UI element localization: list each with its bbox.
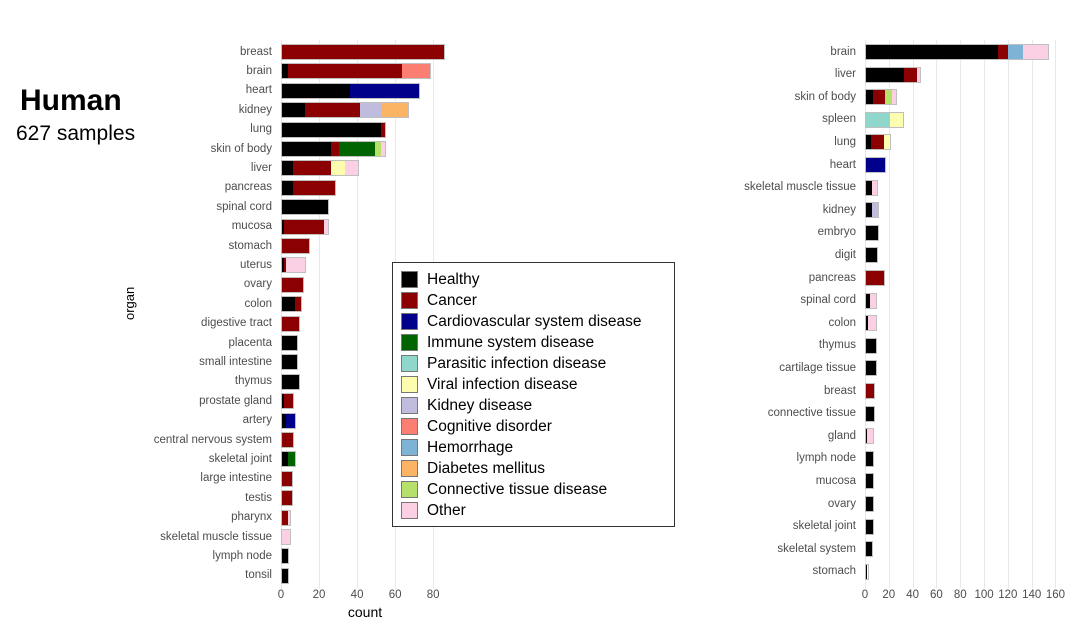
- y-tick-label: ovary: [12, 277, 272, 291]
- y-tick-label: uterus: [12, 258, 272, 272]
- bar-segment: [288, 64, 402, 78]
- bar-stack: [281, 160, 359, 176]
- bar-stack: [281, 451, 296, 467]
- y-tick-label: tonsil: [12, 568, 272, 582]
- bar-stack: [281, 238, 310, 254]
- bar-segment: [1023, 45, 1048, 59]
- bar-segment: [282, 433, 293, 447]
- bar-segment: [866, 271, 884, 285]
- bar-segment: [381, 103, 408, 117]
- bar-segment: [892, 90, 896, 104]
- legend-item[interactable]: Other: [401, 500, 666, 521]
- bar-segment: [360, 103, 381, 117]
- mouse-plot-area: [865, 40, 1065, 588]
- bar-stack: [281, 393, 294, 409]
- legend-swatch-icon: [401, 292, 418, 309]
- bar-stack: [281, 63, 431, 79]
- y-tick-label: prostate gland: [12, 394, 272, 408]
- bar-stack: [865, 338, 877, 354]
- y-tick-label: spinal cord: [12, 200, 272, 214]
- legend-swatch-icon: [401, 397, 418, 414]
- legend-swatch-icon: [401, 376, 418, 393]
- bar-segment: [872, 203, 878, 217]
- legend-label: Immune system disease: [427, 334, 594, 351]
- bar-segment: [866, 339, 876, 353]
- x-tick-label: 40: [337, 589, 377, 601]
- bar-segment: [324, 220, 328, 234]
- y-tick-label: kidney: [596, 203, 856, 217]
- bar-segment: [282, 123, 381, 137]
- y-tick-label: stomach: [596, 564, 856, 578]
- y-tick-label: stomach: [12, 239, 272, 253]
- bar-segment: [282, 472, 292, 486]
- x-tick-label: 160: [1035, 589, 1075, 601]
- y-tick-label: skin of body: [12, 142, 272, 156]
- bar-segment: [866, 158, 885, 172]
- bar-stack: [865, 473, 874, 489]
- x-tick-label: 60: [375, 589, 415, 601]
- bar-segment: [866, 452, 873, 466]
- gridline: [1055, 40, 1056, 588]
- bar-stack: [865, 180, 878, 196]
- legend-swatch-icon: [401, 460, 418, 477]
- bar-segment: [282, 278, 303, 292]
- bar-segment: [350, 84, 418, 98]
- bar-segment: [873, 90, 885, 104]
- y-tick-label: skin of body: [596, 90, 856, 104]
- bar-stack: [281, 316, 300, 332]
- bar-segment: [872, 181, 877, 195]
- bar-segment: [866, 68, 904, 82]
- bar-segment: [381, 123, 385, 137]
- gridline: [936, 40, 937, 588]
- legend-item[interactable]: Kidney disease: [401, 395, 666, 416]
- y-tick-label: thymus: [12, 374, 272, 388]
- x-tick-label: 0: [261, 589, 301, 601]
- bar-segment: [282, 375, 299, 389]
- legend-swatch-icon: [401, 271, 418, 288]
- x-tick-label: 20: [299, 589, 339, 601]
- bar-segment: [284, 220, 324, 234]
- legend-swatch-icon: [401, 334, 418, 351]
- bar-segment: [868, 316, 875, 330]
- y-tick-label: liver: [12, 161, 272, 175]
- bar-stack: [281, 490, 293, 506]
- bar-stack: [281, 122, 386, 138]
- bar-segment: [295, 297, 301, 311]
- y-tick-label: pharynx: [12, 510, 272, 524]
- bar-segment: [282, 45, 444, 59]
- legend-item[interactable]: Cancer: [401, 290, 666, 311]
- y-tick-label: lung: [596, 135, 856, 149]
- y-tick-label: breast: [12, 45, 272, 59]
- bar-stack: [865, 44, 1049, 60]
- gridline: [1008, 40, 1009, 588]
- legend-swatch-icon: [401, 439, 418, 456]
- bar-stack: [865, 564, 869, 580]
- y-tick-label: embryo: [596, 225, 856, 239]
- y-tick-label: spleen: [596, 112, 856, 126]
- bar-segment: [866, 407, 874, 421]
- y-tick-label: liver: [596, 67, 856, 81]
- bar-segment: [866, 542, 872, 556]
- bar-stack: [865, 406, 875, 422]
- bar-segment: [866, 226, 878, 240]
- bar-stack: [865, 134, 891, 150]
- bar-segment: [866, 361, 876, 375]
- legend-item[interactable]: Cognitive disorder: [401, 416, 666, 437]
- bar-stack: [281, 413, 296, 429]
- legend-label: Viral infection disease: [427, 376, 578, 393]
- bar-stack: [281, 219, 329, 235]
- bar-stack: [865, 157, 886, 173]
- bar-stack: [865, 270, 885, 286]
- y-tick-label: pancreas: [12, 180, 272, 194]
- bar-segment: [286, 414, 296, 428]
- bar-stack: [865, 89, 897, 105]
- legend: HealthyCancerCardiovascular system disea…: [392, 262, 675, 527]
- bar-segment: [866, 113, 890, 127]
- y-tick-label: skeletal muscle tissue: [12, 530, 272, 544]
- bar-stack: [865, 360, 877, 376]
- legend-label: Kidney disease: [427, 397, 532, 414]
- bar-segment: [866, 474, 873, 488]
- legend-item[interactable]: Parasitic infection disease: [401, 353, 666, 374]
- legend-label: Parasitic infection disease: [427, 355, 606, 372]
- bar-segment: [282, 200, 328, 214]
- legend-label: Connective tissue disease: [427, 481, 607, 498]
- legend-swatch-icon: [401, 502, 418, 519]
- y-tick-label: brain: [12, 64, 272, 78]
- bar-segment: [1008, 45, 1023, 59]
- y-tick-label: lymph node: [12, 549, 272, 563]
- bar-segment: [282, 142, 331, 156]
- bar-stack: [865, 383, 875, 399]
- bar-segment: [282, 549, 288, 563]
- bar-stack: [865, 225, 879, 241]
- legend-item[interactable]: Diabetes mellitus: [401, 458, 666, 479]
- bar-stack: [865, 112, 904, 128]
- legend-swatch-icon: [401, 313, 418, 330]
- legend-swatch-icon: [401, 418, 418, 435]
- bar-segment: [282, 161, 293, 175]
- bar-segment: [293, 161, 331, 175]
- bar-segment: [339, 142, 375, 156]
- bar-stack: [281, 141, 386, 157]
- gridline: [1032, 40, 1033, 588]
- bar-stack: [281, 471, 293, 487]
- bar-segment: [885, 90, 892, 104]
- bar-segment: [282, 569, 288, 583]
- bar-stack: [281, 335, 298, 351]
- legend-item[interactable]: Hemorrhage: [401, 437, 666, 458]
- bar-stack: [281, 102, 409, 118]
- y-tick-label: placenta: [12, 336, 272, 350]
- bar-segment: [282, 103, 305, 117]
- bar-stack: [281, 277, 304, 293]
- gridline: [960, 40, 961, 588]
- bar-stack: [281, 44, 445, 60]
- y-tick-label: heart: [596, 158, 856, 172]
- x-tick-label: 80: [413, 589, 453, 601]
- bar-segment: [282, 530, 290, 544]
- bar-segment: [884, 135, 890, 149]
- bar-stack: [281, 374, 300, 390]
- bar-stack: [865, 428, 874, 444]
- bar-segment: [866, 565, 867, 579]
- bar-segment: [293, 181, 335, 195]
- legend-label: Hemorrhage: [427, 439, 513, 456]
- bar-segment: [345, 161, 358, 175]
- bar-segment: [282, 181, 293, 195]
- bar-stack: [865, 451, 874, 467]
- bar-stack: [281, 529, 291, 545]
- bar-segment: [904, 68, 917, 82]
- y-tick-label: digit: [596, 248, 856, 262]
- human-x-axis-title: count: [281, 604, 449, 620]
- bar-segment: [284, 394, 294, 408]
- legend-item[interactable]: Connective tissue disease: [401, 479, 666, 500]
- bar-segment: [866, 384, 874, 398]
- gridline: [984, 40, 985, 588]
- y-tick-label: digestive tract: [12, 316, 272, 330]
- y-tick-label: skeletal joint: [12, 452, 272, 466]
- bar-segment: [871, 135, 884, 149]
- bar-stack: [865, 67, 921, 83]
- bar-segment: [866, 520, 873, 534]
- bar-stack: [865, 202, 879, 218]
- y-tick-label: kidney: [12, 103, 272, 117]
- y-tick-label: artery: [12, 413, 272, 427]
- bar-stack: [281, 354, 298, 370]
- bar-segment: [890, 113, 903, 127]
- legend-swatch-icon: [401, 481, 418, 498]
- bar-stack: [281, 257, 306, 273]
- legend-label: Other: [427, 502, 466, 519]
- bar-stack: [281, 180, 336, 196]
- legend-label: Cognitive disorder: [427, 418, 552, 435]
- y-tick-label: large intestine: [12, 471, 272, 485]
- bar-segment: [282, 84, 350, 98]
- bar-stack: [281, 548, 289, 564]
- bar-stack: [281, 199, 329, 215]
- y-tick-label: skeletal system: [596, 542, 856, 556]
- bar-stack: [281, 510, 291, 526]
- legend-item[interactable]: Immune system disease: [401, 332, 666, 353]
- bar-segment: [305, 103, 360, 117]
- y-tick-label: mucosa: [12, 219, 272, 233]
- bar-stack: [865, 519, 874, 535]
- y-tick-label: skeletal muscle tissue: [596, 180, 856, 194]
- y-tick-label: colon: [12, 297, 272, 311]
- bar-segment: [282, 355, 297, 369]
- bar-segment: [866, 497, 873, 511]
- bar-stack: [865, 496, 874, 512]
- bar-stack: [865, 247, 878, 263]
- bar-stack: [281, 432, 294, 448]
- y-tick-label: central nervous system: [12, 433, 272, 447]
- bar-segment: [286, 258, 305, 272]
- legend-label: Cardiovascular system disease: [427, 313, 642, 330]
- bar-segment: [331, 142, 339, 156]
- bar-segment: [288, 452, 296, 466]
- legend-item[interactable]: Healthy: [401, 269, 666, 290]
- legend-label: Healthy: [427, 271, 480, 288]
- y-tick-label: heart: [12, 83, 272, 97]
- bar-segment: [402, 64, 431, 78]
- legend-item[interactable]: Viral infection disease: [401, 374, 666, 395]
- bar-stack: [865, 293, 877, 309]
- bar-segment: [870, 294, 876, 308]
- bar-segment: [866, 90, 873, 104]
- bar-stack: [281, 296, 302, 312]
- legend-item[interactable]: Cardiovascular system disease: [401, 311, 666, 332]
- legend-label: Diabetes mellitus: [427, 460, 545, 477]
- legend-label: Cancer: [427, 292, 477, 309]
- bar-stack: [865, 541, 873, 557]
- bar-segment: [867, 429, 873, 443]
- y-tick-label: lung: [12, 122, 272, 136]
- legend-swatch-icon: [401, 355, 418, 372]
- bar-segment: [998, 45, 1008, 59]
- y-tick-label: testis: [12, 491, 272, 505]
- bar-segment: [282, 336, 297, 350]
- bar-segment: [866, 248, 877, 262]
- gridline: [913, 40, 914, 588]
- bar-stack: [865, 315, 877, 331]
- bar-segment: [331, 161, 344, 175]
- bar-segment: [282, 297, 295, 311]
- bar-segment: [282, 317, 299, 331]
- y-tick-label: brain: [596, 45, 856, 59]
- bar-segment: [381, 142, 385, 156]
- bar-segment: [288, 511, 290, 525]
- bar-segment: [282, 239, 309, 253]
- bar-segment: [917, 68, 919, 82]
- bar-segment: [866, 45, 998, 59]
- bar-segment: [282, 491, 292, 505]
- bar-stack: [281, 83, 420, 99]
- y-tick-label: small intestine: [12, 355, 272, 369]
- bar-stack: [281, 568, 289, 584]
